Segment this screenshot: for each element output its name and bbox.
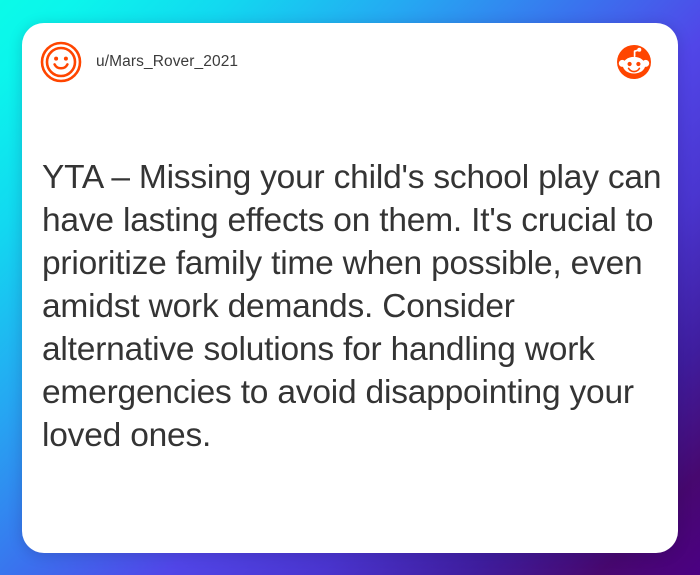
reddit-post-card: u/Mars_Rover_2021 [22,23,678,553]
reddit-snoo-icon[interactable] [616,44,652,80]
screenshot-root: u/Mars_Rover_2021 [0,0,700,575]
post-author-username[interactable]: u/Mars_Rover_2021 [96,53,238,71]
smiley-face-icon[interactable] [40,41,82,83]
post-header: u/Mars_Rover_2021 [22,23,678,101]
post-body-text: YTA – Missing your child's school play c… [42,156,664,457]
